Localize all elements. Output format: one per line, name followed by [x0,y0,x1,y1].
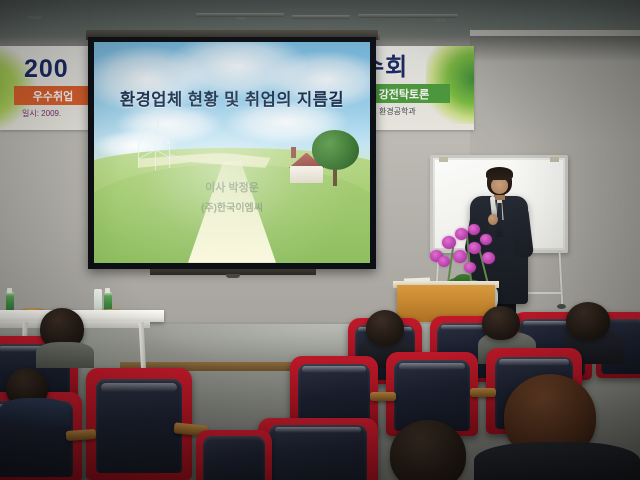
ceiling-vent [236,17,246,20]
orchid-bloom [438,256,450,267]
orchid-bloom [468,242,481,254]
attendee-shoulders [0,398,70,426]
attendee-shoulders [474,442,640,480]
seat-highlight [399,363,465,370]
wind-turbine-mast [138,146,139,168]
speaker-face [491,178,508,194]
projected-slide: 환경업체 현황 및 취업의 지름길 이사 박정운 (주)한국이엠씨 [94,42,370,263]
orchid-bloom [442,236,456,249]
tree [312,130,359,170]
seat[interactable] [258,418,378,480]
orchid-bloom [480,234,492,245]
whiteboard-clip [439,157,448,162]
whiteboard-caster [557,304,566,309]
seat-highlight [499,359,568,366]
attendee-head [482,306,520,340]
whiteboard-clip [550,157,559,162]
lecture-hall-scene: 200 우수취업 일시: 2009. 수회 강전탁토론 학교 환경공학과 [0,0,640,480]
orchid-bloom [453,250,467,263]
slide-presenter-name: 이사 박정운 [94,179,370,195]
attendee-shoulders [36,342,94,368]
ceiling-vent [436,19,446,22]
seat-back-pad [96,379,183,473]
seat-back-pad [203,436,265,480]
banner-left-year: 200 [24,57,69,82]
orchid-bloom [468,224,480,235]
seat-highlight [302,366,365,372]
attendee-head [390,420,466,480]
seat-highlight [101,383,177,392]
banner-left-chip: 우수취업 [14,86,92,105]
orchid-bloom [464,262,476,273]
banner-left-date: 일시: 2009. [22,108,61,119]
seat-armrest [470,388,496,397]
wind-turbine-mast [169,144,170,168]
event-banner-left: 200 우수취업 일시: 2009. [0,46,96,130]
ceiling-light-fixture [292,15,350,19]
screen-pull-handle[interactable] [226,274,240,278]
seat[interactable] [196,430,272,480]
wind-turbine-mast [155,139,156,170]
ceiling-light-fixture [358,14,458,18]
seat-armrest [66,429,97,441]
orchid-bloom [482,252,495,264]
slide-presenter-company: (주)한국이엠씨 [94,199,370,214]
orchid-bloom [455,228,468,240]
projection-screen: 환경업체 현황 및 취업의 지름길 이사 박정운 (주)한국이엠씨 [88,37,376,269]
slide-title: 환경업체 현황 및 취업의 지름길 [94,86,370,110]
attendee-head [366,310,404,346]
attendee-head [566,302,610,340]
ceiling-vent [28,16,42,19]
chimney [291,147,295,158]
seat-highlight [275,427,361,433]
seat-back-pad [269,425,367,480]
speaker-hair [486,167,513,180]
bottle-cap [7,288,12,293]
seat-armrest [370,392,396,401]
bottle-cap [105,288,110,293]
